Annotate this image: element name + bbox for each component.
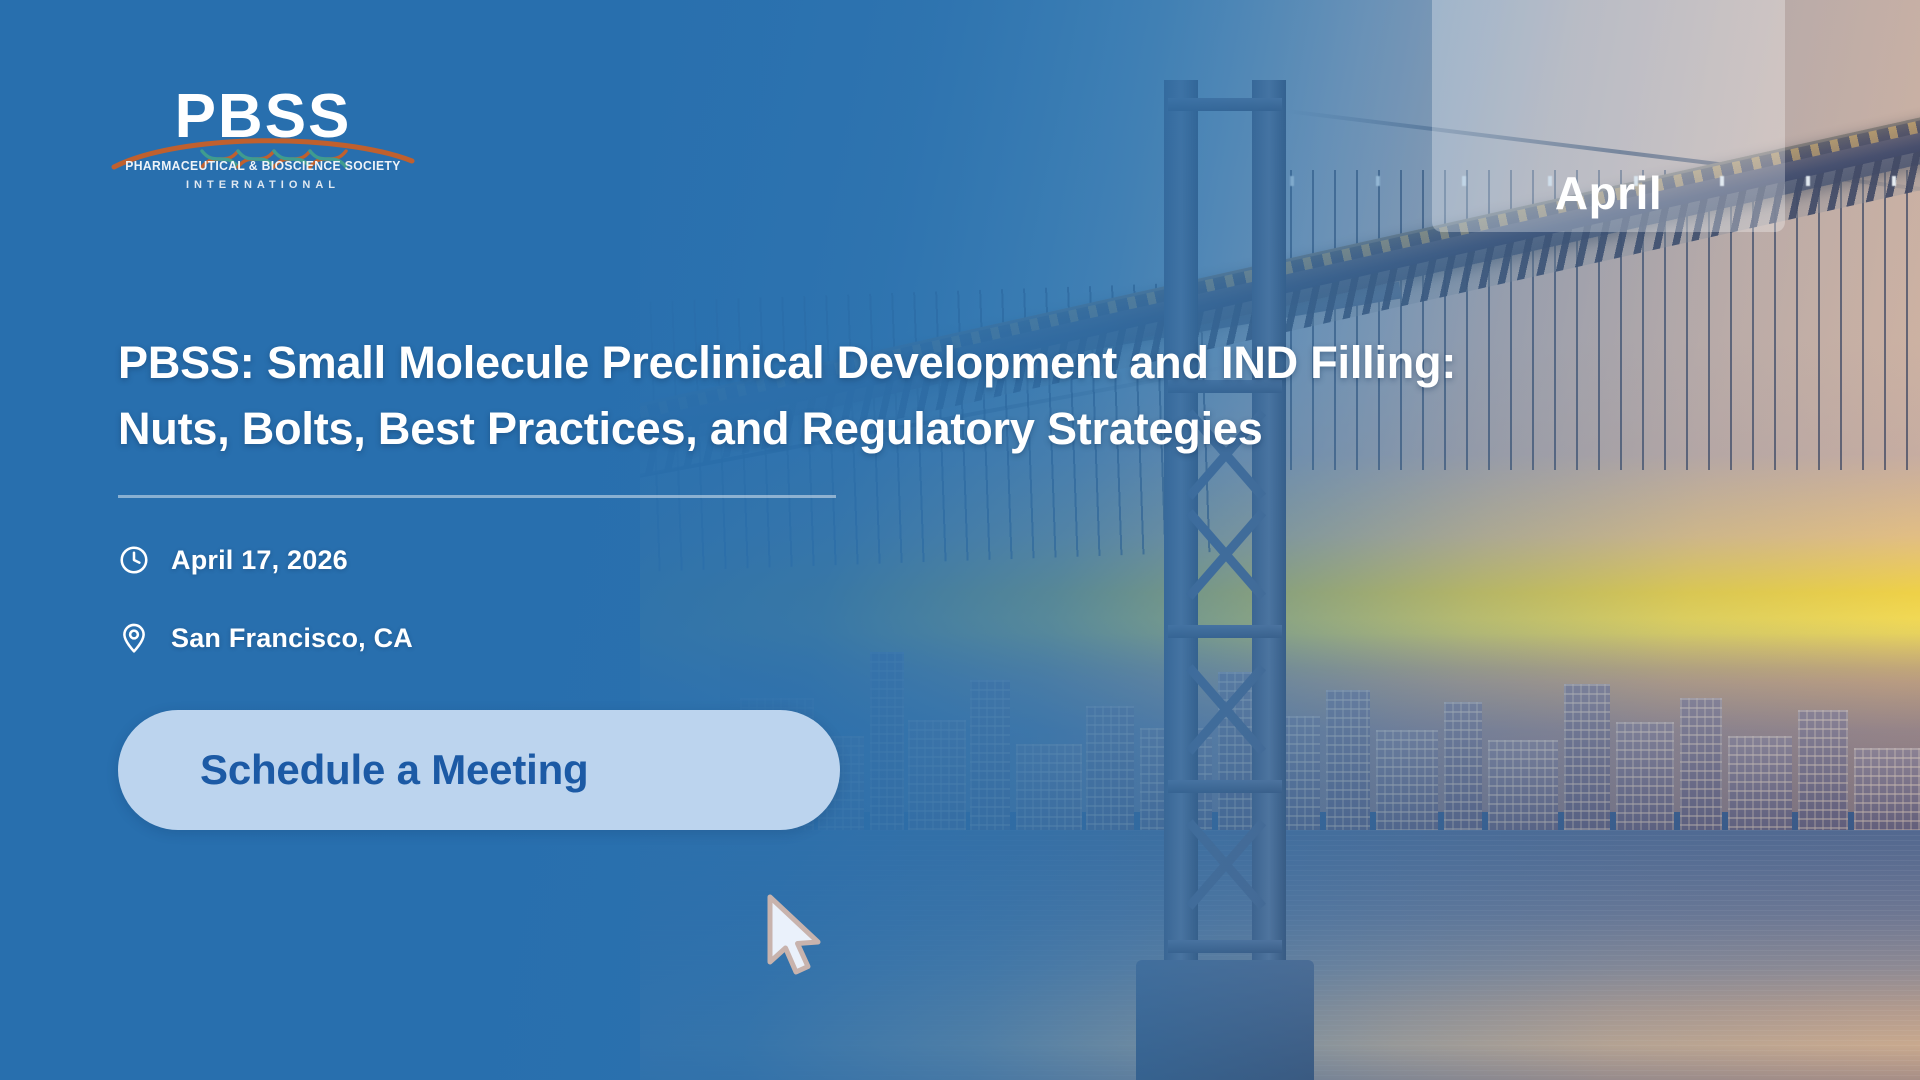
event-promo-banner: April PBSS PHARMACEUTICAL & BIOSCIENCE S… — [0, 0, 1920, 1080]
pbss-logo[interactable]: PBSS PHARMACEUTICAL & BIOSCIENCE SOCIETY… — [118, 88, 408, 191]
logo-swoosh-and-helix-icon — [118, 133, 408, 155]
event-location-label: San Francisco, CA — [171, 623, 413, 654]
logo-tagline: PHARMACEUTICAL & BIOSCIENCE SOCIETY — [122, 159, 403, 173]
logo-subtagline: INTERNATIONAL — [118, 179, 408, 191]
month-badge: April — [1432, 0, 1785, 232]
clock-icon — [118, 544, 150, 576]
map-pin-icon — [118, 622, 150, 654]
schedule-a-meeting-button[interactable]: Schedule a Meeting — [118, 710, 840, 830]
event-date-row: April 17, 2026 — [118, 544, 1538, 576]
event-title: PBSS: Small Molecule Preclinical Develop… — [118, 330, 1508, 461]
banner-content: PBSS: Small Molecule Preclinical Develop… — [118, 330, 1538, 830]
event-date-label: April 17, 2026 — [171, 545, 348, 576]
title-divider — [118, 495, 836, 498]
event-location-row: San Francisco, CA — [118, 622, 1538, 654]
cta-label: Schedule a Meeting — [200, 746, 589, 794]
month-badge-label: April — [1555, 170, 1662, 216]
